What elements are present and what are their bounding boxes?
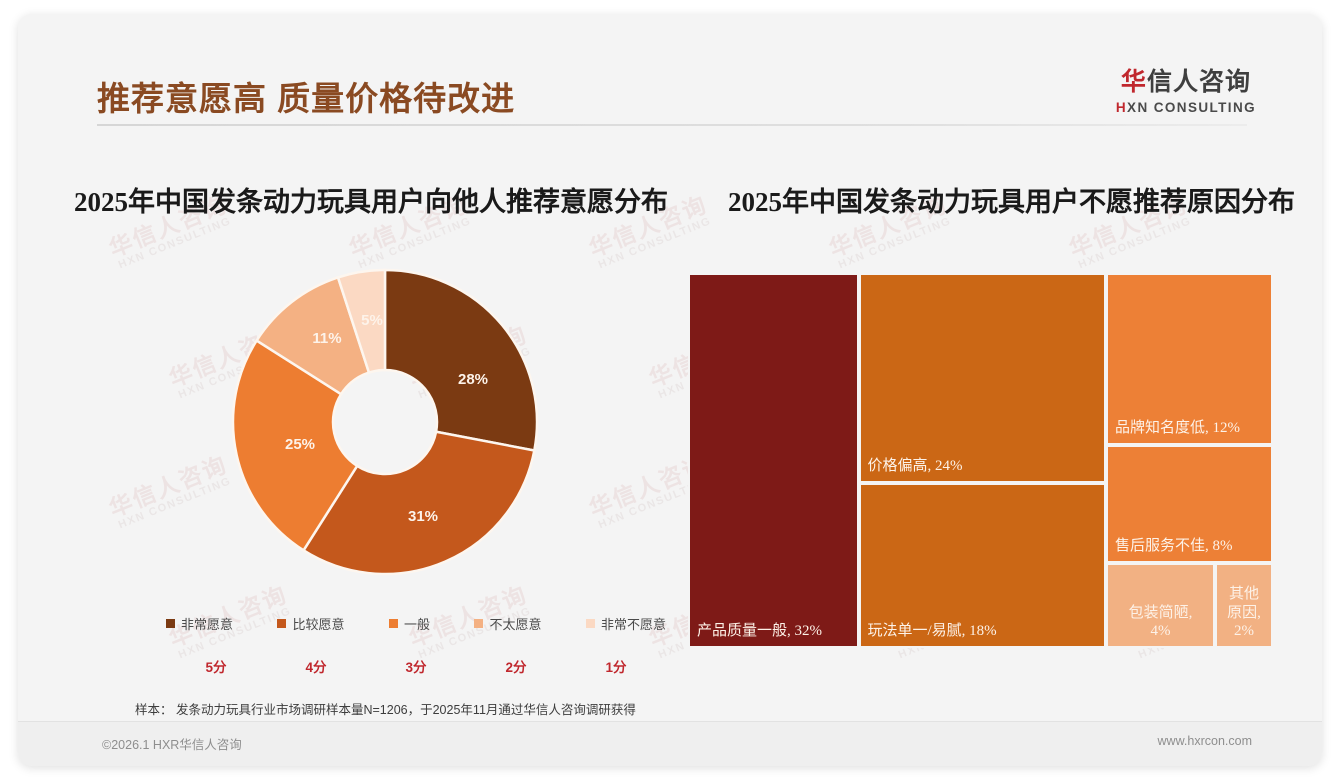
company-logo: 华信人咨询 HXN CONSULTING bbox=[1116, 69, 1256, 115]
donut-slice-label: 11% bbox=[312, 330, 341, 347]
legend-item[interactable]: 非常不愿意 bbox=[586, 614, 666, 633]
legend-item[interactable]: 非常愿意 bbox=[166, 614, 233, 633]
legend-swatch-icon bbox=[166, 619, 175, 628]
footer-copyright: ©2026.1 HXR华信人咨询 bbox=[102, 734, 242, 753]
legend-label: 一般 bbox=[404, 614, 430, 633]
reasons-treemap-chart: 产品质量一般, 32%价格偏高, 24%玩法单一/易腻, 18%品牌知名度低, … bbox=[688, 273, 1273, 648]
donut-slice-label: 25% bbox=[285, 436, 315, 453]
legend-label: 非常不愿意 bbox=[601, 614, 666, 633]
score-label: 4分 bbox=[266, 656, 366, 676]
donut-slice-label: 5% bbox=[361, 312, 383, 329]
legend-swatch-icon bbox=[474, 619, 483, 628]
footer-website: www.hxrcon.com bbox=[1158, 734, 1252, 748]
treemap-cell-label: 其他原因,2% bbox=[1217, 585, 1271, 641]
page-title: 推荐意愿高 质量价格待改进 bbox=[97, 72, 515, 120]
treemap-cell[interactable]: 其他原因,2% bbox=[1215, 563, 1273, 648]
slide-footer: ©2026.1 HXR华信人咨询 www.hxrcon.com bbox=[18, 721, 1322, 766]
legend-item[interactable]: 不太愿意 bbox=[474, 614, 541, 633]
header-divider bbox=[97, 124, 1247, 126]
treemap-cell-label: 玩法单一/易腻, 18% bbox=[868, 622, 997, 641]
logo-chinese: 华信人咨询 bbox=[1116, 69, 1256, 97]
legend-swatch-icon bbox=[389, 619, 398, 628]
legend-label: 非常愿意 bbox=[181, 614, 233, 633]
recommendation-donut-chart: 28%31%25%11%5% bbox=[225, 262, 545, 582]
treemap-cell[interactable]: 包装简陋,4% bbox=[1106, 563, 1215, 648]
sample-footnote: 样本： 发条动力玩具行业市场调研样本量N=1206，于2025年11月通过华信人… bbox=[135, 699, 636, 718]
treemap-cell-label: 品牌知名度低, 12% bbox=[1115, 419, 1240, 438]
treemap-cell[interactable]: 产品质量一般, 32% bbox=[688, 273, 859, 648]
slide-root: 华信人咨询HXN CONSULTING华信人咨询HXN CONSULTING华信… bbox=[0, 0, 1340, 780]
legend-item[interactable]: 比较愿意 bbox=[277, 614, 344, 633]
logo-english-rest: XN CONSULTING bbox=[1127, 100, 1256, 115]
score-label: 2分 bbox=[466, 656, 566, 676]
logo-chinese-rest: 信人咨询 bbox=[1147, 68, 1251, 96]
treemap-cell-label: 包装简陋,4% bbox=[1108, 604, 1213, 642]
treemap-cell[interactable]: 玩法单一/易腻, 18% bbox=[859, 483, 1107, 648]
left-chart-heading: 2025年中国发条动力玩具用户向他人推荐意愿分布 bbox=[74, 180, 668, 219]
logo-english: HXN CONSULTING bbox=[1116, 100, 1256, 115]
donut-slice[interactable] bbox=[385, 270, 537, 450]
right-chart-heading: 2025年中国发条动力玩具用户不愿推荐原因分布 bbox=[728, 180, 1295, 219]
legend-item[interactable]: 一般 bbox=[389, 614, 430, 633]
donut-slice-label: 28% bbox=[458, 371, 488, 388]
treemap-cell-label: 价格偏高, 24% bbox=[868, 457, 963, 476]
score-scale-row: 5分4分3分2分1分 bbox=[166, 656, 666, 676]
legend-label: 比较愿意 bbox=[292, 614, 344, 633]
logo-h-glyph: H bbox=[1116, 100, 1127, 115]
slide-card: 华信人咨询HXN CONSULTING华信人咨询HXN CONSULTING华信… bbox=[18, 14, 1322, 766]
treemap-cell-label: 产品质量一般, 32% bbox=[697, 622, 822, 641]
donut-slice-label: 31% bbox=[408, 508, 438, 525]
treemap-cell[interactable]: 价格偏高, 24% bbox=[859, 273, 1107, 483]
legend-swatch-icon bbox=[277, 619, 286, 628]
treemap-cell[interactable]: 售后服务不佳, 8% bbox=[1106, 445, 1273, 563]
treemap-cell[interactable]: 品牌知名度低, 12% bbox=[1106, 273, 1273, 445]
donut-legend: 非常愿意比较愿意一般不太愿意非常不愿意 bbox=[166, 614, 666, 633]
score-label: 1分 bbox=[566, 656, 666, 676]
logo-hua-glyph: 华 bbox=[1121, 68, 1147, 96]
watermark: 华信人咨询HXN CONSULTING bbox=[106, 452, 235, 532]
donut-svg: 28%31%25%11%5% bbox=[225, 262, 545, 582]
treemap-cell-label: 售后服务不佳, 8% bbox=[1115, 537, 1233, 556]
legend-swatch-icon bbox=[586, 619, 595, 628]
score-label: 3分 bbox=[366, 656, 466, 676]
legend-label: 不太愿意 bbox=[489, 614, 541, 633]
score-label: 5分 bbox=[166, 656, 266, 676]
